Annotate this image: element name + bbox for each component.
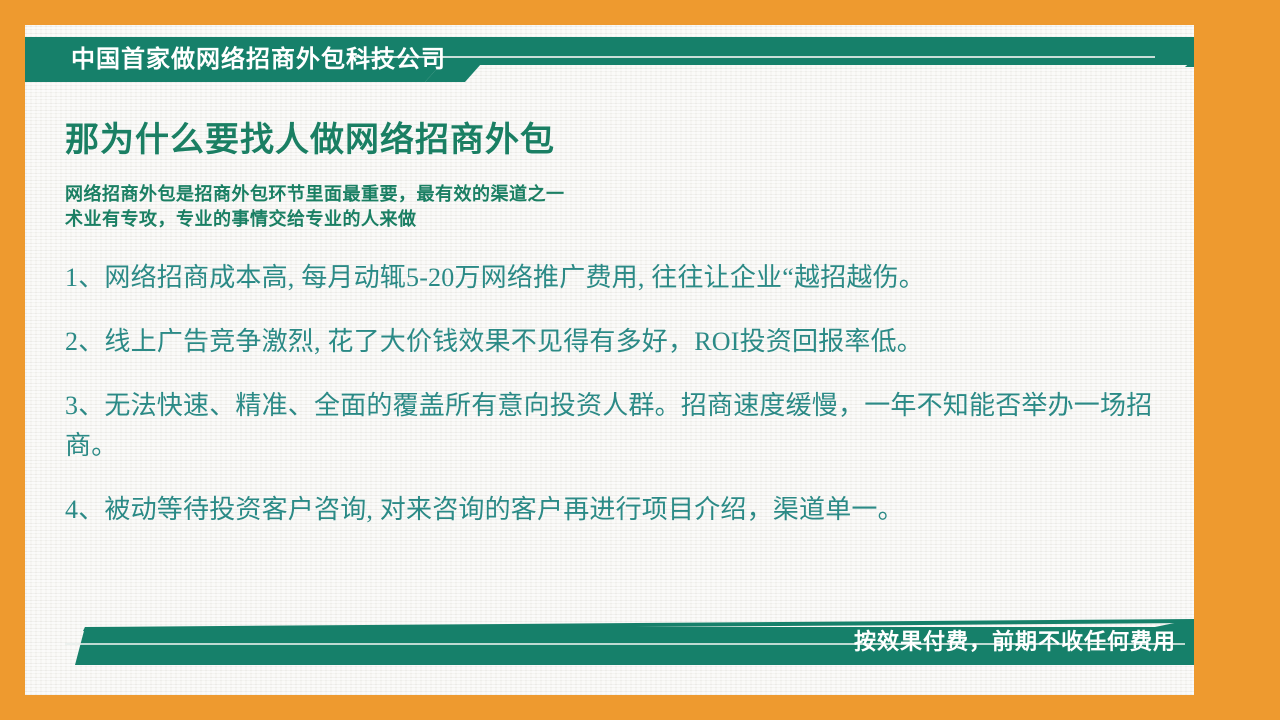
list-item: 2、线上广告竞争激烈, 花了大价钱效果不见得有多好，ROI投资回报率低。 [65,322,1175,362]
list-item: 3、无法快速、精准、全面的覆盖所有意向投资人群。招商速度缓慢，一年不知能否举办一… [65,386,1175,466]
slide-content: 那为什么要找人做网络招商外包 网络招商外包是招商外包环节里面最重要，最有效的渠道… [65,120,1175,530]
subtitle-block: 网络招商外包是招商外包环节里面最重要，最有效的渠道之一 术业有专攻，专业的事情交… [65,182,1175,232]
subtitle-line-2: 术业有专攻，专业的事情交给专业的人来做 [65,207,1175,232]
list-item: 1、网络招商成本高, 每月动辄5-20万网络推广费用, 往往让企业“越招越伤。 [65,258,1175,298]
page-title: 那为什么要找人做网络招商外包 [65,120,1175,160]
bullet-list: 1、网络招商成本高, 每月动辄5-20万网络推广费用, 往往让企业“越招越伤。 … [65,258,1175,530]
subtitle-line-1: 网络招商外包是招商外包环节里面最重要，最有效的渠道之一 [65,182,1175,207]
list-item: 4、被动等待投资客户咨询, 对来咨询的客户再进行项目介绍，渠道单一。 [65,490,1175,530]
slide-canvas: 中国首家做网络招商外包科技公司 那为什么要找人做网络招商外包 网络招商外包是招商… [0,0,1280,720]
footer-label: 按效果付费，前期不收任何费用 [854,627,1176,657]
slide-paper-background: 中国首家做网络招商外包科技公司 那为什么要找人做网络招商外包 网络招商外包是招商… [25,25,1194,695]
header-tag-label: 中国首家做网络招商外包科技公司 [71,45,446,75]
